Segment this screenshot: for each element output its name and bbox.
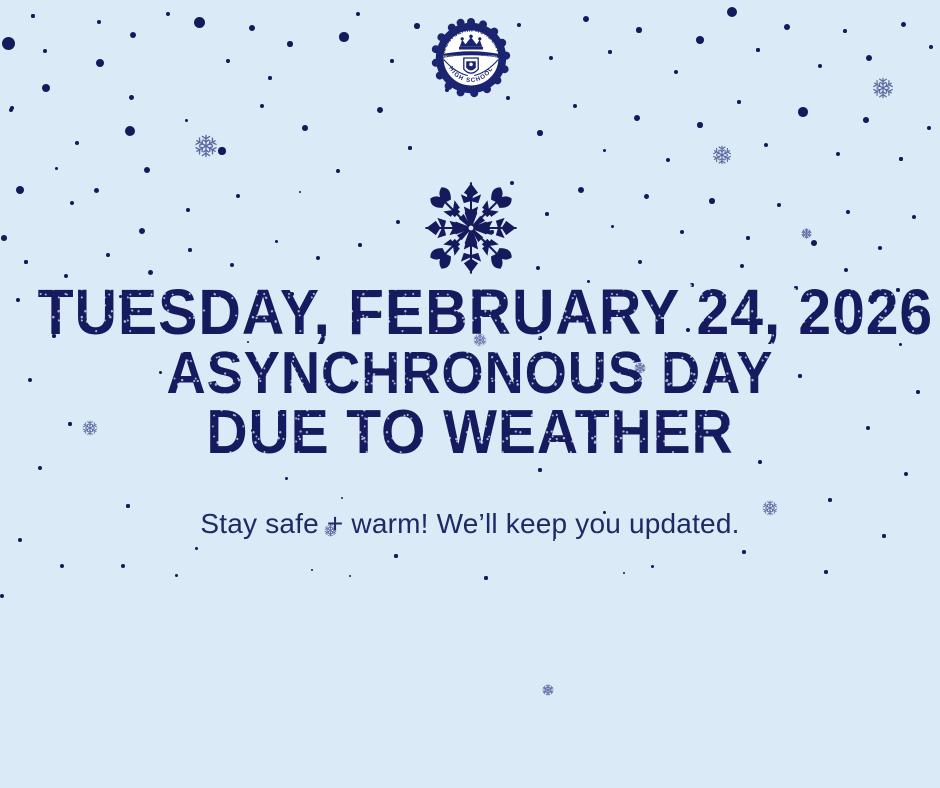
snow-dot: [236, 194, 240, 198]
snow-dot: [249, 25, 255, 31]
snow-dot: [408, 146, 411, 149]
headline-date: TUESDAY, FEBRUARY 24, 2026: [38, 283, 903, 342]
snow-dot: [696, 36, 704, 44]
snow-dot: [24, 260, 27, 263]
snow-dot: [96, 59, 104, 67]
svg-text:ET PATRIA: ET PATRIA: [483, 55, 497, 59]
snow-dot: [583, 16, 589, 22]
snow-dot: [636, 27, 641, 32]
snow-dot: [697, 122, 702, 127]
small-snowflake-icon: [194, 134, 218, 158]
snow-dot: [341, 497, 344, 500]
snow-dot: [1, 235, 7, 241]
snow-dot: [55, 167, 58, 170]
snow-dot: [863, 117, 869, 123]
snow-dot: [756, 48, 759, 51]
snow-dot: [339, 32, 348, 41]
snow-dot: [260, 104, 265, 109]
snow-dot: [316, 256, 321, 261]
svg-text:PRO SCHOLA: PRO SCHOLA: [443, 55, 461, 59]
snow-dot: [666, 158, 670, 162]
snow-dot: [740, 264, 744, 268]
snow-dot: [9, 108, 13, 112]
snow-dot: [549, 56, 554, 61]
snow-dot: [634, 115, 640, 121]
snow-dot: [377, 107, 384, 114]
snow-dot: [299, 191, 302, 194]
snow-dot: [517, 23, 521, 27]
small-snowflake-icon: [801, 227, 812, 238]
snow-dot: [674, 70, 678, 74]
subtitle-message: Stay safe + warm! We’ll keep you updated…: [0, 508, 940, 540]
snow-dot: [125, 126, 135, 136]
snow-dot: [268, 76, 271, 79]
snow-dot: [811, 240, 817, 246]
snow-dot: [144, 167, 150, 173]
snow-dot: [737, 100, 740, 103]
snow-dot: [10, 106, 14, 110]
school-seal-logo: MONTCLAIR ACADEMY HIGH SCHOOL PRO SCHOLA…: [431, 18, 511, 98]
snow-dot: [16, 186, 24, 194]
snow-dot: [188, 248, 191, 251]
snow-dot: [70, 201, 74, 205]
snow-dot: [390, 59, 394, 63]
snow-dot: [106, 253, 110, 257]
snow-dot: [287, 41, 292, 46]
snow-dot: [784, 24, 790, 30]
snow-dot: [121, 564, 125, 568]
snow-dot: [651, 565, 654, 568]
snow-dot: [414, 23, 419, 28]
snow-dot: [43, 49, 47, 53]
weather-announcement-poster: MONTCLAIR ACADEMY HIGH SCHOOL PRO SCHOLA…: [0, 0, 940, 788]
snow-dot: [866, 55, 872, 61]
snow-dot: [0, 594, 4, 598]
snow-dot: [899, 157, 902, 160]
snow-dot: [358, 243, 362, 247]
snow-dot: [194, 17, 205, 28]
snow-dot: [97, 20, 101, 24]
snow-dot: [644, 194, 649, 199]
headline-status-text: ASYNCHRONOUS DAY: [167, 346, 774, 400]
large-ornate-snowflake-icon: [415, 172, 527, 284]
snow-dot: [824, 570, 827, 573]
snow-dot: [38, 466, 42, 470]
snow-dot: [396, 220, 400, 224]
snow-dot: [537, 130, 542, 135]
headline-block: TUESDAY, FEBRUARY 24, 2026 ASYNCHRONOUS …: [0, 283, 940, 461]
snow-dot: [484, 576, 487, 579]
snow-dot: [818, 64, 823, 69]
snow-dot: [929, 45, 933, 49]
snow-dot: [764, 143, 769, 148]
snow-dot: [218, 147, 225, 154]
snow-dot: [75, 141, 79, 145]
snow-dot: [746, 236, 749, 239]
headline-reason: DUE TO WEATHER: [38, 404, 903, 461]
snow-dot: [2, 37, 15, 50]
headline-status: ASYNCHRONOUS DAY: [38, 346, 903, 400]
snow-dot: [129, 95, 134, 100]
snow-dot: [904, 472, 908, 476]
snow-dot: [302, 125, 308, 131]
snow-dot: [846, 210, 850, 214]
snow-dot: [623, 572, 625, 574]
snow-dot: [148, 270, 153, 275]
snow-dot: [798, 107, 808, 117]
snow-dot: [195, 547, 198, 550]
snow-dot: [727, 7, 737, 17]
snow-dot: [226, 59, 230, 63]
snow-dot: [285, 477, 288, 480]
snow-dot: [336, 169, 341, 174]
snow-dot: [777, 203, 781, 207]
snow-dot: [742, 550, 746, 554]
snow-dot: [912, 215, 916, 219]
snow-dot: [901, 22, 906, 27]
snow-dot: [611, 225, 614, 228]
snow-dot: [578, 187, 584, 193]
small-snowflake-icon: [712, 145, 732, 165]
snow-dot: [836, 152, 840, 156]
snow-dot: [394, 554, 397, 557]
snow-dot: [680, 230, 684, 234]
snow-dot: [275, 240, 278, 243]
snow-dot: [166, 12, 171, 17]
snow-dot: [130, 32, 136, 38]
snow-dot: [349, 575, 352, 578]
snow-dot: [603, 149, 606, 152]
snow-dot: [186, 208, 190, 212]
snow-dot: [538, 468, 541, 471]
snow-dot: [843, 29, 847, 33]
snow-dot: [185, 119, 188, 122]
snow-dot: [878, 246, 883, 251]
snow-dot: [42, 84, 51, 93]
snow-dot: [139, 228, 146, 235]
snow-dot: [536, 266, 540, 270]
snow-dot: [828, 498, 831, 501]
snow-dot: [230, 263, 234, 267]
snow-dot: [545, 212, 549, 216]
snow-dot: [60, 564, 65, 569]
snow-dot: [573, 104, 577, 108]
small-snowflake-icon: [542, 684, 554, 696]
headline-date-text: TUESDAY, FEBRUARY 24, 2026: [38, 283, 933, 342]
headline-reason-text: DUE TO WEATHER: [206, 404, 733, 461]
snow-dot: [356, 12, 360, 16]
snow-dot: [311, 569, 314, 572]
small-snowflake-icon: [872, 77, 894, 99]
snow-dot: [709, 198, 714, 203]
snow-dot: [844, 268, 849, 273]
snow-dot: [608, 50, 611, 53]
snow-dot: [638, 260, 643, 265]
snow-dot: [31, 14, 34, 17]
snow-dot: [927, 126, 932, 131]
snow-dot: [94, 188, 99, 193]
snow-dot: [175, 574, 178, 577]
